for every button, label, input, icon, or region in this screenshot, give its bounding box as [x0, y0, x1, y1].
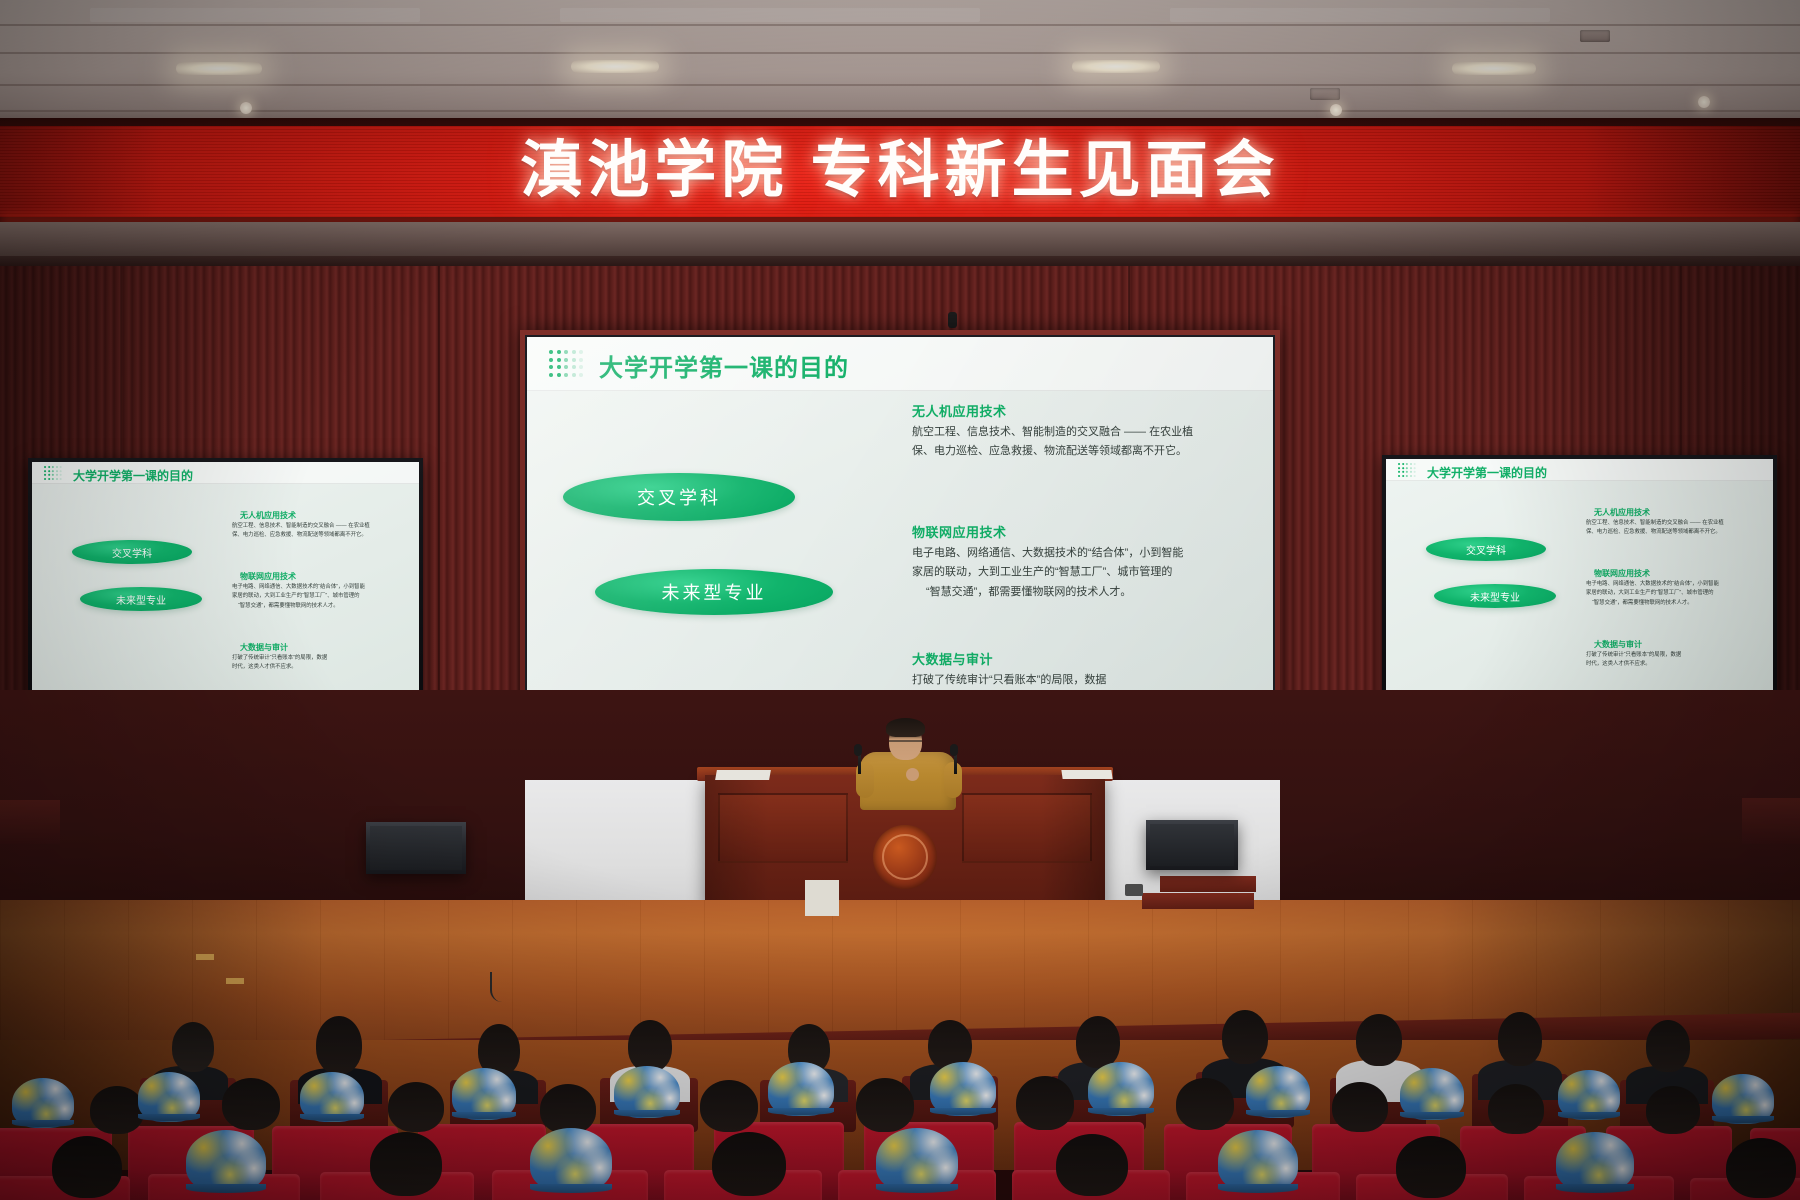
- hat-brim: [12, 1120, 74, 1127]
- stage-monitor-speaker-right: [1146, 820, 1238, 870]
- left-monitor-sec-body-2: 电子电路、网络通信、大数据技术的“结合体”，小到智能 家居的联动，大到工业生产的…: [232, 583, 419, 611]
- pill-label: 交叉学科: [112, 545, 152, 560]
- right-wall-block: [1742, 798, 1800, 844]
- stage-step: [1160, 876, 1256, 892]
- speaker-grille: [370, 826, 462, 870]
- ceiling-spot-light: [1698, 96, 1710, 108]
- right-monitor-sec-head-1: 无人机应用技术: [1594, 507, 1650, 518]
- sec-line: 电子电路、网络通信、大数据技术的“结合体”，小到智能: [912, 544, 1183, 563]
- left-monitor-sec-head-3: 大数据与审计: [240, 642, 288, 653]
- left-monitor-slide: 大学开学第一课的目的 交叉学科 未来型专业 无人机应用技术 航空工程、信息技术、…: [32, 462, 419, 704]
- floor-box: [805, 880, 839, 916]
- main-slide-pill-1: 交叉学科: [563, 473, 795, 521]
- audience-hat: [530, 1128, 612, 1192]
- ceiling: [0, 0, 1800, 132]
- main-slide-title: 大学开学第一课的目的: [599, 348, 849, 383]
- sec-line: 打破了传统审计“只看账本”的局限，数据: [912, 671, 1106, 690]
- sec-line: 电子电路、网络通信、大数据技术的“结合体”，小到智能: [1586, 580, 1773, 589]
- speaker-arm-right: [944, 762, 962, 798]
- wall-soffit: [0, 222, 1800, 258]
- floor-marker: [226, 978, 244, 984]
- pill-label: 未来型专业: [1470, 589, 1520, 604]
- audience-head: [700, 1080, 758, 1132]
- audience-head: [1076, 1016, 1120, 1068]
- audience-head: [1176, 1078, 1234, 1130]
- right-monitor-pill-2: 未来型专业: [1434, 584, 1556, 608]
- speaker-hand: [906, 768, 919, 781]
- sec-line: 家居的联动，大到工业生产的“智慧工厂”、城市管理的: [232, 592, 419, 601]
- left-monitor-pill-1: 交叉学科: [72, 540, 192, 564]
- audience-head: [856, 1078, 914, 1132]
- main-sec-body-1: 航空工程、信息技术、智能制造的交叉融合 —— 在农业植 保、电力巡检、应急救援、…: [912, 423, 1193, 462]
- audience-head: [540, 1084, 596, 1134]
- sec-line: 航空工程、信息技术、智能制造的交叉融合 —— 在农业植: [912, 423, 1193, 442]
- right-monitor-sec-head-2: 物联网应用技术: [1594, 568, 1650, 579]
- sec-line: 打破了传统审计“只看账本”的局限，数据: [1586, 651, 1766, 660]
- paper-left: [715, 770, 771, 780]
- sec-line: 家居的联动，大到工业生产的“智慧工厂”、城市管理的: [912, 563, 1183, 582]
- pill-label: 交叉学科: [637, 484, 721, 510]
- sec-line: “智慧交通”，都需要懂物联网的技术人才。: [232, 602, 419, 611]
- audience-head: [1488, 1084, 1544, 1134]
- audience-head: [1646, 1020, 1690, 1072]
- right-monitor-sec-body-2: 电子电路、网络通信、大数据技术的“结合体”，小到智能 家居的联动，大到工业生产的…: [1586, 580, 1773, 608]
- ceiling-light: [176, 62, 262, 75]
- podium-emblem: [873, 825, 937, 889]
- slide-header-rule: [527, 390, 1273, 391]
- audience-hat: [876, 1128, 958, 1192]
- audience-head: [1056, 1134, 1128, 1196]
- podium-panel: [718, 793, 848, 863]
- audience-head: [1396, 1136, 1466, 1198]
- audience-head: [1356, 1014, 1402, 1066]
- projector-mount: [948, 312, 957, 328]
- pill-label: 未来型专业: [116, 592, 166, 607]
- event-banner: 滇池学院 专科新生见面会: [0, 126, 1800, 217]
- hat-brim: [530, 1184, 612, 1193]
- hat-brim: [1218, 1184, 1298, 1193]
- main-sec-head-1: 无人机应用技术: [912, 401, 1007, 420]
- right-monitor-pill-1: 交叉学科: [1426, 537, 1546, 561]
- audience-head: [1016, 1076, 1074, 1130]
- main-sec-body-2: 电子电路、网络通信、大数据技术的“结合体”，小到智能 家居的联动，大到工业生产的…: [912, 544, 1183, 602]
- hat-brim: [1246, 1110, 1310, 1117]
- right-monitor-slide-title: 大学开学第一课的目的: [1427, 464, 1547, 481]
- ceiling-light: [571, 60, 659, 73]
- left-monitor-sec-body-3: 打破了传统审计“只看账本”的局限，数据 时代，这类人才供不应求。: [232, 654, 412, 673]
- stage-cable: [490, 972, 512, 1002]
- sec-line: “智慧交通”，都需要懂物联网的技术人才。: [1586, 599, 1773, 608]
- speaker-torso: [860, 752, 956, 810]
- stage-monitor-speaker-left: [366, 822, 466, 874]
- audience-head: [316, 1016, 362, 1074]
- hat-brim: [876, 1184, 958, 1193]
- hat-brim: [768, 1108, 834, 1115]
- hat-brim: [614, 1110, 680, 1117]
- sec-line: 电子电路、网络通信、大数据技术的“结合体”，小到智能: [232, 583, 419, 592]
- banner-title: 滇池学院 专科新生见面会: [520, 140, 1279, 202]
- microphone-head: [854, 744, 862, 756]
- left-wall-block: [0, 800, 60, 844]
- dot-grid-icon: [549, 350, 584, 378]
- right-monitor-slide: 大学开学第一课的目的 交叉学科 未来型专业 无人机应用技术 航空工程、信息技术、…: [1386, 459, 1773, 701]
- sec-line: 家居的联动，大到工业生产的“智慧工厂”、城市管理的: [1586, 589, 1773, 598]
- left-monitor: 大学开学第一课的目的 交叉学科 未来型专业 无人机应用技术 航空工程、信息技术、…: [28, 458, 423, 708]
- audience-head: [1332, 1082, 1388, 1132]
- main-sec-head-3: 大数据与审计: [912, 649, 993, 668]
- hat-brim: [1558, 1112, 1620, 1119]
- sec-line: 保、电力巡检、应急救援、物流配送等领域都离不开它。: [232, 531, 419, 540]
- right-monitor-sec-head-3: 大数据与审计: [1594, 639, 1642, 650]
- stage-step: [1142, 893, 1254, 909]
- ceiling-vent: [1580, 30, 1610, 42]
- audience-head: [1498, 1012, 1542, 1066]
- audience-head: [628, 1020, 672, 1072]
- left-monitor-slide-title: 大学开学第一课的目的: [73, 467, 193, 484]
- sec-line: 打破了传统审计“只看账本”的局限，数据: [232, 654, 412, 663]
- audience-head: [1726, 1138, 1796, 1198]
- hat-brim: [186, 1184, 266, 1193]
- hat-brim: [138, 1114, 200, 1121]
- left-monitor-sec-head-2: 物联网应用技术: [240, 571, 296, 582]
- hat-brim: [930, 1108, 996, 1115]
- main-slide-pill-2: 未来型专业: [595, 569, 833, 615]
- microphone-head: [950, 744, 958, 756]
- audience-area: [0, 1000, 1800, 1200]
- ceiling-light: [1072, 60, 1160, 73]
- main-sec-head-2: 物联网应用技术: [912, 522, 1007, 541]
- audience-head: [1646, 1086, 1700, 1134]
- audience-hat: [1556, 1132, 1634, 1192]
- hat-brim: [1556, 1184, 1634, 1193]
- hat-brim: [300, 1114, 364, 1121]
- hat-brim: [1712, 1116, 1774, 1123]
- right-monitor-sec-body-3: 打破了传统审计“只看账本”的局限，数据 时代，这类人才供不应求。: [1586, 651, 1766, 670]
- pill-label: 交叉学科: [1466, 542, 1506, 557]
- audience-head: [90, 1086, 144, 1134]
- audience-head: [712, 1132, 786, 1196]
- right-monitor: 大学开学第一课的目的 交叉学科 未来型专业 无人机应用技术 航空工程、信息技术、…: [1382, 455, 1777, 705]
- sec-line: 时代，这类人才供不应求。: [232, 663, 412, 672]
- ceiling-spot-light: [1330, 104, 1342, 116]
- speaker-grille: [1150, 824, 1234, 866]
- sec-line: 保、电力巡检、应急救援、物流配送等领域都离不开它。: [1586, 528, 1773, 537]
- wall-soffit-shadow: [0, 256, 1800, 266]
- floor-marker: [196, 954, 214, 960]
- audience-head: [172, 1022, 214, 1072]
- audience-hat: [1218, 1130, 1298, 1192]
- hat-brim: [452, 1112, 516, 1119]
- audience-head: [388, 1082, 444, 1132]
- audience-head: [1222, 1010, 1268, 1064]
- right-monitor-sec-body-1: 航空工程、信息技术、智能制造的交叉融合 —— 在农业植 保、电力巡检、应急救援、…: [1586, 519, 1773, 538]
- dot-grid-icon: [44, 466, 62, 480]
- hat-brim: [1400, 1112, 1464, 1119]
- podium-panel: [962, 793, 1092, 863]
- audience-hat: [186, 1130, 266, 1192]
- speaker-hair: [886, 718, 925, 737]
- ceiling-light: [1452, 62, 1536, 75]
- left-monitor-pill-2: 未来型专业: [80, 587, 202, 611]
- ceiling-vent: [1310, 88, 1340, 100]
- paper-right: [1061, 770, 1112, 779]
- sec-line: “智慧交通”，都需要懂物联网的技术人才。: [912, 583, 1183, 602]
- pill-label: 未来型专业: [662, 579, 767, 605]
- hat-brim: [1088, 1108, 1154, 1115]
- speaker-glasses: [889, 740, 922, 746]
- left-monitor-sec-body-1: 航空工程、信息技术、智能制造的交叉融合 —— 在农业植 保、电力巡检、应急救援、…: [232, 522, 419, 541]
- sec-line: 保、电力巡检、应急救援、物流配送等领域都离不开它。: [912, 442, 1193, 461]
- left-monitor-sec-head-1: 无人机应用技术: [240, 510, 296, 521]
- dot-grid-icon: [1398, 463, 1416, 477]
- ceiling-spot-light: [240, 102, 252, 114]
- audience-head: [222, 1078, 280, 1130]
- sec-line: 航空工程、信息技术、智能制造的交叉融合 —— 在农业植: [1586, 519, 1773, 528]
- auditorium-scene: 滇池学院 专科新生见面会 大学开学第一课的目的 交叉学科 未来型专业: [0, 0, 1800, 1200]
- sec-line: 时代，这类人才供不应求。: [1586, 660, 1766, 669]
- sec-line: 航空工程、信息技术、智能制造的交叉融合 —— 在农业植: [232, 522, 419, 531]
- audience-head: [370, 1132, 442, 1196]
- audience-head: [52, 1136, 122, 1198]
- floor-cable-box: [1125, 884, 1143, 896]
